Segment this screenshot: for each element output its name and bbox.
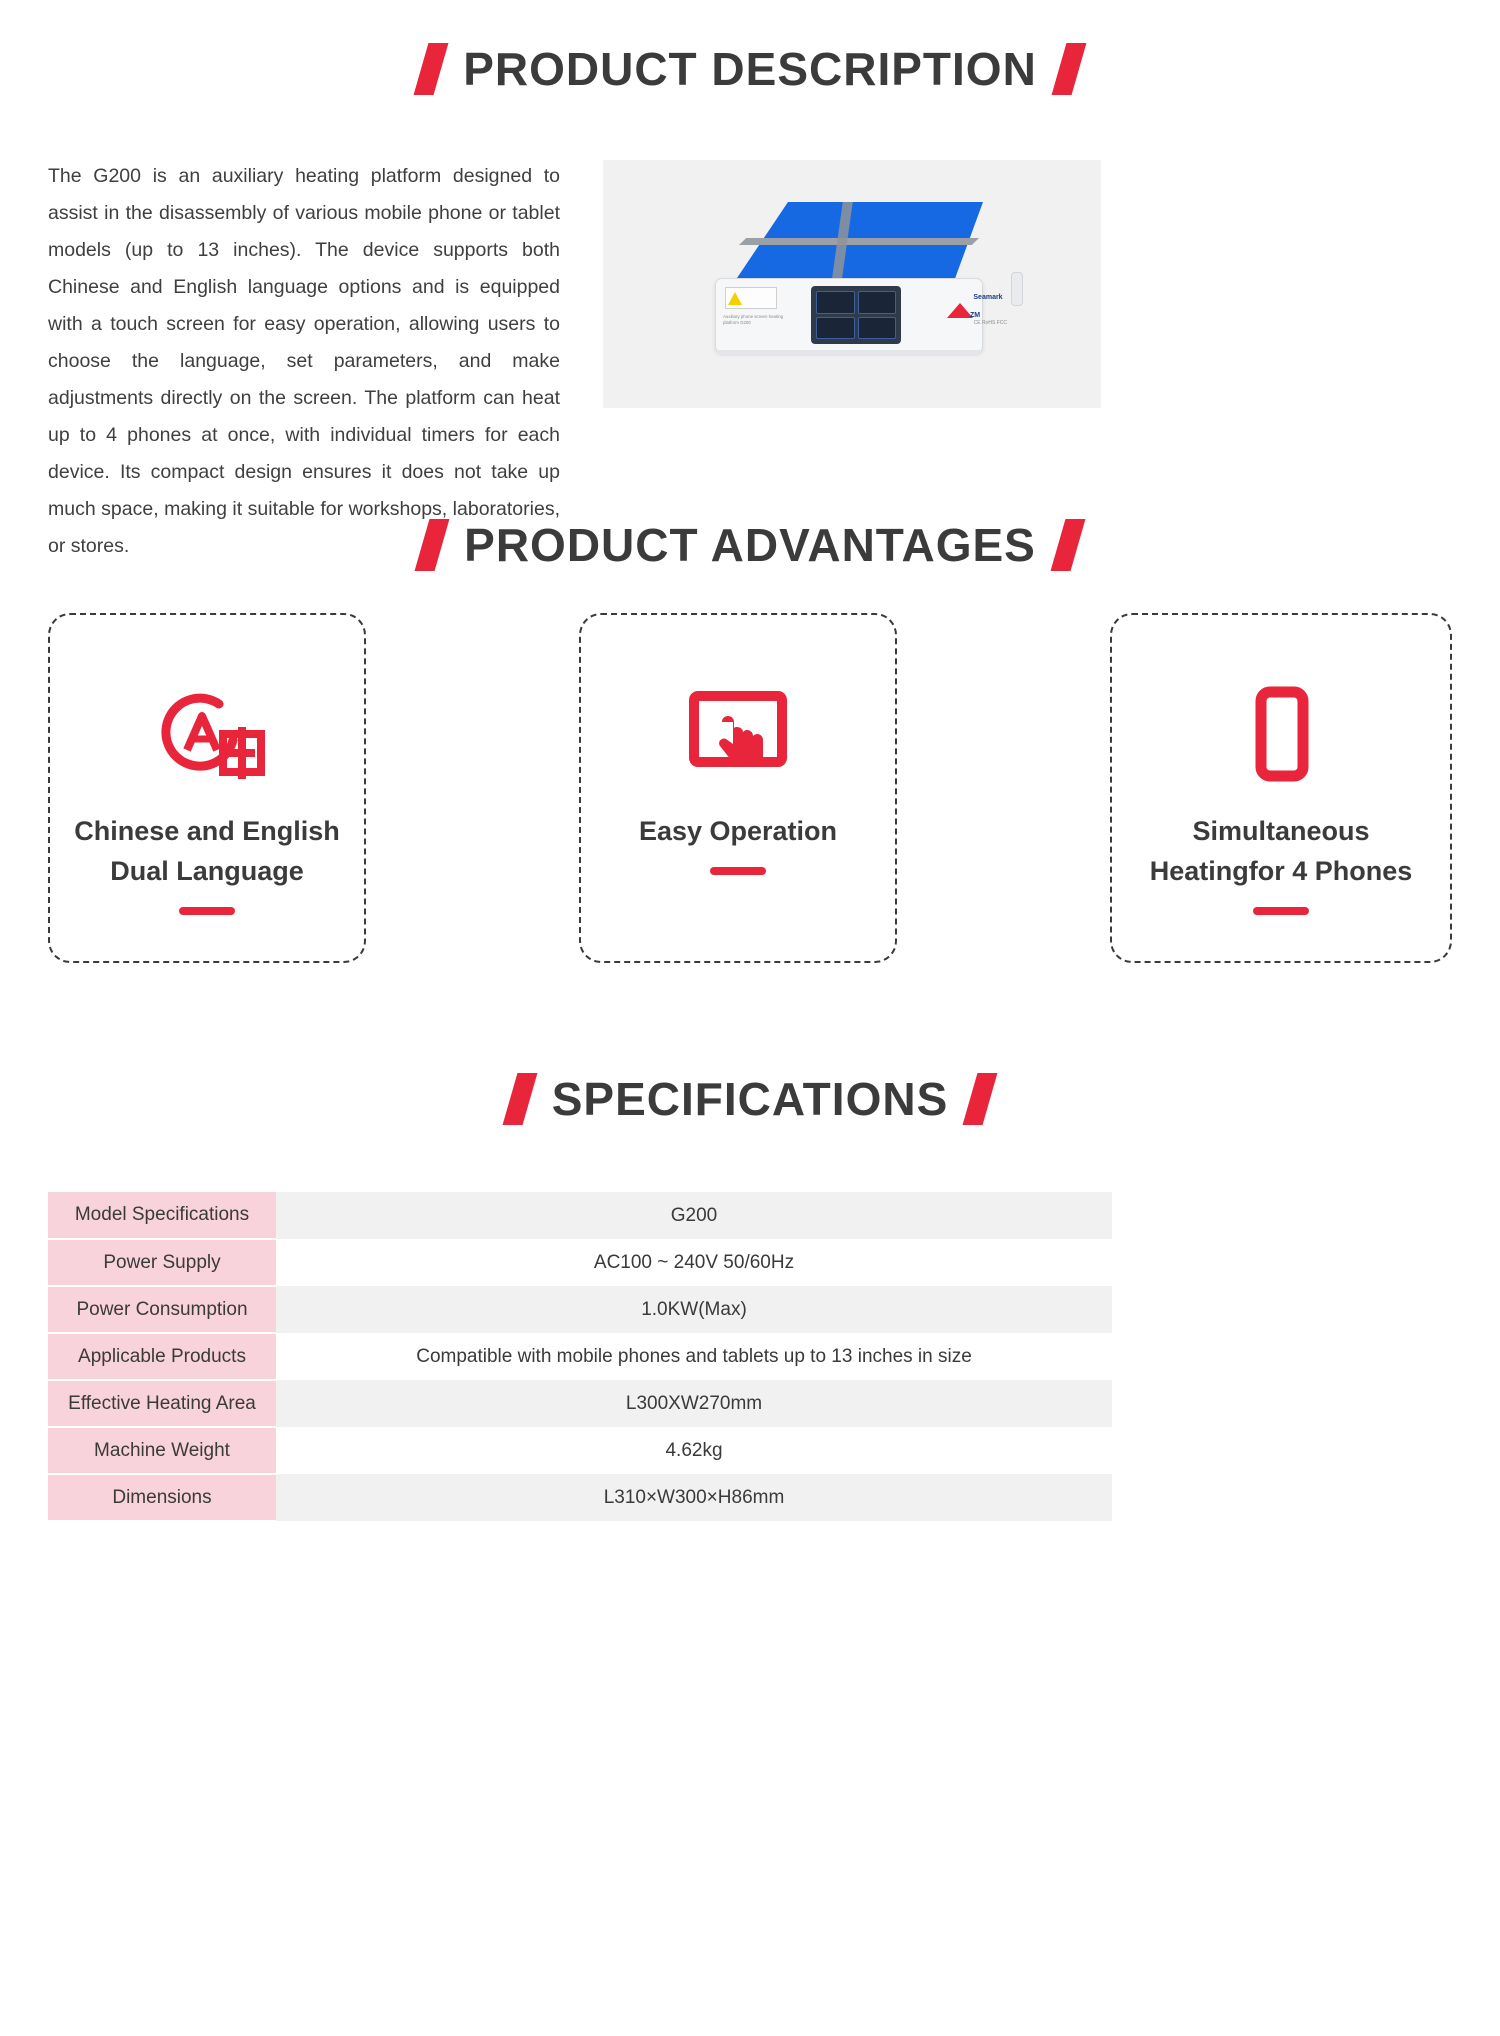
warning-sticker: [725, 287, 777, 309]
advantage-card-label: Chinese and English Dual Language: [68, 811, 346, 891]
product-description-page: PRODUCT DESCRIPTION The G200 is an auxil…: [0, 0, 1500, 2036]
spec-value: L300XW270mm: [276, 1380, 1112, 1427]
spec-value: G200: [276, 1192, 1112, 1239]
advantage-card-label: Easy Operation: [633, 811, 843, 851]
specifications-table: Model Specifications G200 Power Supply A…: [48, 1192, 1112, 1522]
device-touch-screen: [811, 286, 901, 344]
device-certification-marks: CE RoHS FCC: [974, 320, 1007, 326]
specifications-table-body: Model Specifications G200 Power Supply A…: [48, 1192, 1112, 1521]
table-row: Effective Heating Area L300XW270mm: [48, 1380, 1112, 1427]
spec-label: Model Specifications: [48, 1192, 276, 1239]
device-base: [717, 350, 981, 356]
slash-accent-right-icon: [963, 1073, 998, 1125]
spec-value: AC100 ~ 240V 50/60Hz: [276, 1239, 1112, 1286]
table-row: Applicable Products Compatible with mobi…: [48, 1333, 1112, 1380]
spec-value: 1.0KW(Max): [276, 1286, 1112, 1333]
product-photo: Auxiliary phone screen heating platform …: [603, 160, 1101, 408]
slash-accent-left-icon: [502, 1073, 537, 1125]
device-illustration: Auxiliary phone screen heating platform …: [715, 202, 1015, 382]
spec-value: Compatible with mobile phones and tablet…: [276, 1333, 1112, 1380]
table-row: Model Specifications G200: [48, 1192, 1112, 1239]
phone-icon: [1221, 677, 1341, 797]
table-row: Dimensions L310×W300×H86mm: [48, 1474, 1112, 1521]
slash-accent-left-icon: [415, 519, 450, 571]
section-header-description: PRODUCT DESCRIPTION: [0, 42, 1500, 96]
spec-label: Applicable Products: [48, 1333, 276, 1380]
spec-label: Effective Heating Area: [48, 1380, 276, 1427]
slash-accent-right-icon: [1050, 519, 1085, 571]
advantage-card-easy-operation: Easy Operation: [579, 613, 897, 963]
language-dual-icon: [147, 677, 267, 797]
brand-name: Seamark ZM: [970, 294, 1003, 319]
advantage-card-underline: [179, 907, 235, 915]
device-side-knob: [1011, 272, 1023, 306]
device-top-stripe-horizontal: [739, 238, 979, 245]
table-row: Power Consumption 1.0KW(Max): [48, 1286, 1112, 1333]
section-header-specifications: SPECIFICATIONS: [0, 1072, 1500, 1126]
spec-label: Machine Weight: [48, 1427, 276, 1474]
table-row: Power Supply AC100 ~ 240V 50/60Hz: [48, 1239, 1112, 1286]
page-title-specifications: SPECIFICATIONS: [552, 1072, 949, 1126]
advantage-card-list: Chinese and English Dual Language Easy O…: [48, 613, 1452, 963]
device-brand-logo: Seamark ZM: [945, 286, 1005, 322]
slash-accent-left-icon: [414, 43, 449, 95]
spec-label: Power Consumption: [48, 1286, 276, 1333]
warning-triangle-icon: [728, 292, 742, 305]
table-row: Machine Weight 4.62kg: [48, 1427, 1112, 1474]
advantage-card-label: Simultaneous Heatingfor 4 Phones: [1144, 811, 1419, 891]
device-front-caption: Auxiliary phone screen heating platform …: [723, 314, 797, 326]
page-title-advantages: PRODUCT ADVANTAGES: [464, 518, 1036, 572]
touch-screen-icon: [678, 677, 798, 797]
screen-zone-2: [858, 291, 897, 314]
description-paragraph: The G200 is an auxiliary heating platfor…: [48, 158, 560, 565]
advantage-card-dual-language: Chinese and English Dual Language: [48, 613, 366, 963]
spec-value: 4.62kg: [276, 1427, 1112, 1474]
spec-label: Power Supply: [48, 1239, 276, 1286]
spec-value: L310×W300×H86mm: [276, 1474, 1112, 1521]
screen-zone-3: [816, 317, 855, 340]
advantage-card-underline: [1253, 907, 1309, 915]
screen-zone-1: [816, 291, 855, 314]
page-title-description: PRODUCT DESCRIPTION: [463, 42, 1037, 96]
advantage-card-underline: [710, 867, 766, 875]
advantage-card-simultaneous-heating: Simultaneous Heatingfor 4 Phones: [1110, 613, 1452, 963]
spec-label: Dimensions: [48, 1474, 276, 1521]
section-header-advantages: PRODUCT ADVANTAGES: [0, 518, 1500, 572]
slash-accent-right-icon: [1051, 43, 1086, 95]
screen-zone-4: [858, 317, 897, 340]
